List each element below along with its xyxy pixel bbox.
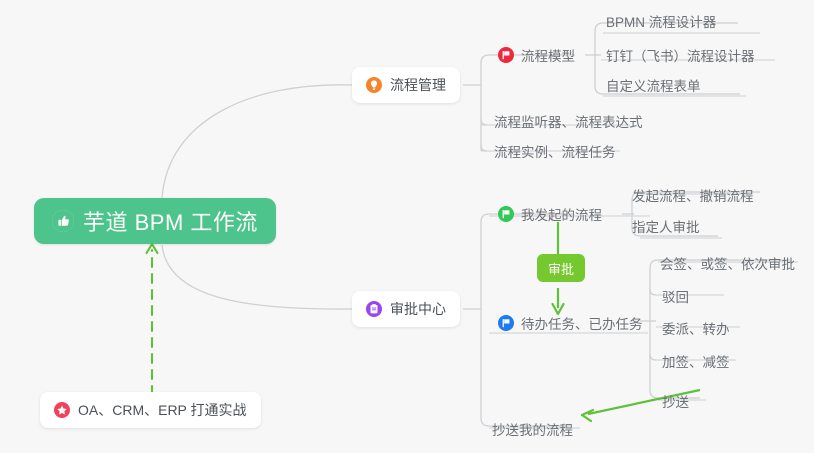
node-label: 我发起的流程 <box>521 204 602 224</box>
node-label: 流程监听器、流程表达式 <box>494 111 643 131</box>
node-label: 抄送我的流程 <box>492 419 573 439</box>
node-process-instance-task[interactable]: 流程实例、流程任务 <box>490 138 621 164</box>
node-label: 待办任务、已办任务 <box>521 313 643 333</box>
tag-label: 审批 <box>548 259 574 278</box>
node-process-model[interactable]: 流程模型 <box>494 42 580 68</box>
wire-root-to-process-management <box>162 85 352 198</box>
node-label: 流程实例、流程任务 <box>494 141 616 161</box>
node-label: 抄送 <box>662 391 689 411</box>
node-cc-to-me-processes[interactable]: 抄送我的流程 <box>488 416 578 442</box>
wire-todo-l4-elbow <box>650 354 656 360</box>
node-assignee-approval[interactable]: 指定人审批 <box>628 213 705 239</box>
node-label: 发起流程、撤销流程 <box>632 185 754 205</box>
clipboard-icon <box>366 301 382 317</box>
flag-icon <box>498 315 514 331</box>
node-reject[interactable]: 驳回 <box>658 283 694 309</box>
node-label: 指定人审批 <box>632 216 700 236</box>
node-label: 驳回 <box>662 286 689 306</box>
node-cc[interactable]: 抄送 <box>658 388 694 414</box>
wire-pm-child2-elbow <box>481 119 487 125</box>
mindmap-canvas: 芋道 BPM 工作流 流程管理 流程模型 BPMN 流程设计器 钉钉（飞书）流程… <box>0 0 814 453</box>
flag-icon <box>498 206 514 222</box>
node-custom-process-form[interactable]: 自定义流程表单 <box>602 72 706 98</box>
node-todo-done-tasks[interactable]: 待办任务、已办任务 <box>494 310 648 336</box>
arrow-callout-to-root <box>147 244 158 395</box>
node-add-remove-sign[interactable]: 加签、减签 <box>658 348 735 374</box>
callout-integration-practice[interactable]: OA、CRM、ERP 打通实战 <box>40 392 261 428</box>
node-label: 会签、或签、依次审批 <box>660 253 795 273</box>
wire-todo-l2-elbow <box>650 289 656 295</box>
node-label: 钉钉（飞书）流程设计器 <box>606 45 755 65</box>
star-icon <box>54 402 70 418</box>
branch-label: 流程管理 <box>390 75 446 95</box>
branch-approval-center[interactable]: 审批中心 <box>352 291 460 327</box>
wire-pm-child3-elbow <box>481 145 487 151</box>
node-delegate-transfer[interactable]: 委派、转办 <box>658 315 735 341</box>
node-bpmn-designer[interactable]: BPMN 流程设计器 <box>602 8 721 34</box>
wire-root-to-approval-center <box>162 245 352 309</box>
root-label: 芋道 BPM 工作流 <box>83 205 258 237</box>
node-dingtalk-feishu-designer[interactable]: 钉钉（飞书）流程设计器 <box>602 42 760 68</box>
node-label: BPMN 流程设计器 <box>606 11 716 31</box>
node-countersign-orsign-sequential[interactable]: 会签、或签、依次审批 <box>656 250 800 276</box>
lightbulb-icon <box>366 77 382 93</box>
node-start-cancel-process[interactable]: 发起流程、撤销流程 <box>628 182 759 208</box>
branch-process-management[interactable]: 流程管理 <box>352 67 460 103</box>
callout-label: OA、CRM、ERP 打通实战 <box>78 400 247 420</box>
thumbs-up-icon <box>52 210 74 232</box>
node-label: 委派、转办 <box>662 318 730 338</box>
node-label: 加签、减签 <box>662 351 730 371</box>
branch-label: 审批中心 <box>390 299 446 319</box>
flag-icon <box>498 47 514 63</box>
node-label: 自定义流程表单 <box>606 75 701 95</box>
tag-approval[interactable]: 审批 <box>537 254 585 282</box>
wire-pm-spine <box>475 63 481 151</box>
root-node[interactable]: 芋道 BPM 工作流 <box>34 198 276 244</box>
node-my-initiated-processes[interactable]: 我发起的流程 <box>494 201 607 227</box>
node-label: 流程模型 <box>521 45 575 65</box>
node-process-listener-expression[interactable]: 流程监听器、流程表达式 <box>490 108 648 134</box>
